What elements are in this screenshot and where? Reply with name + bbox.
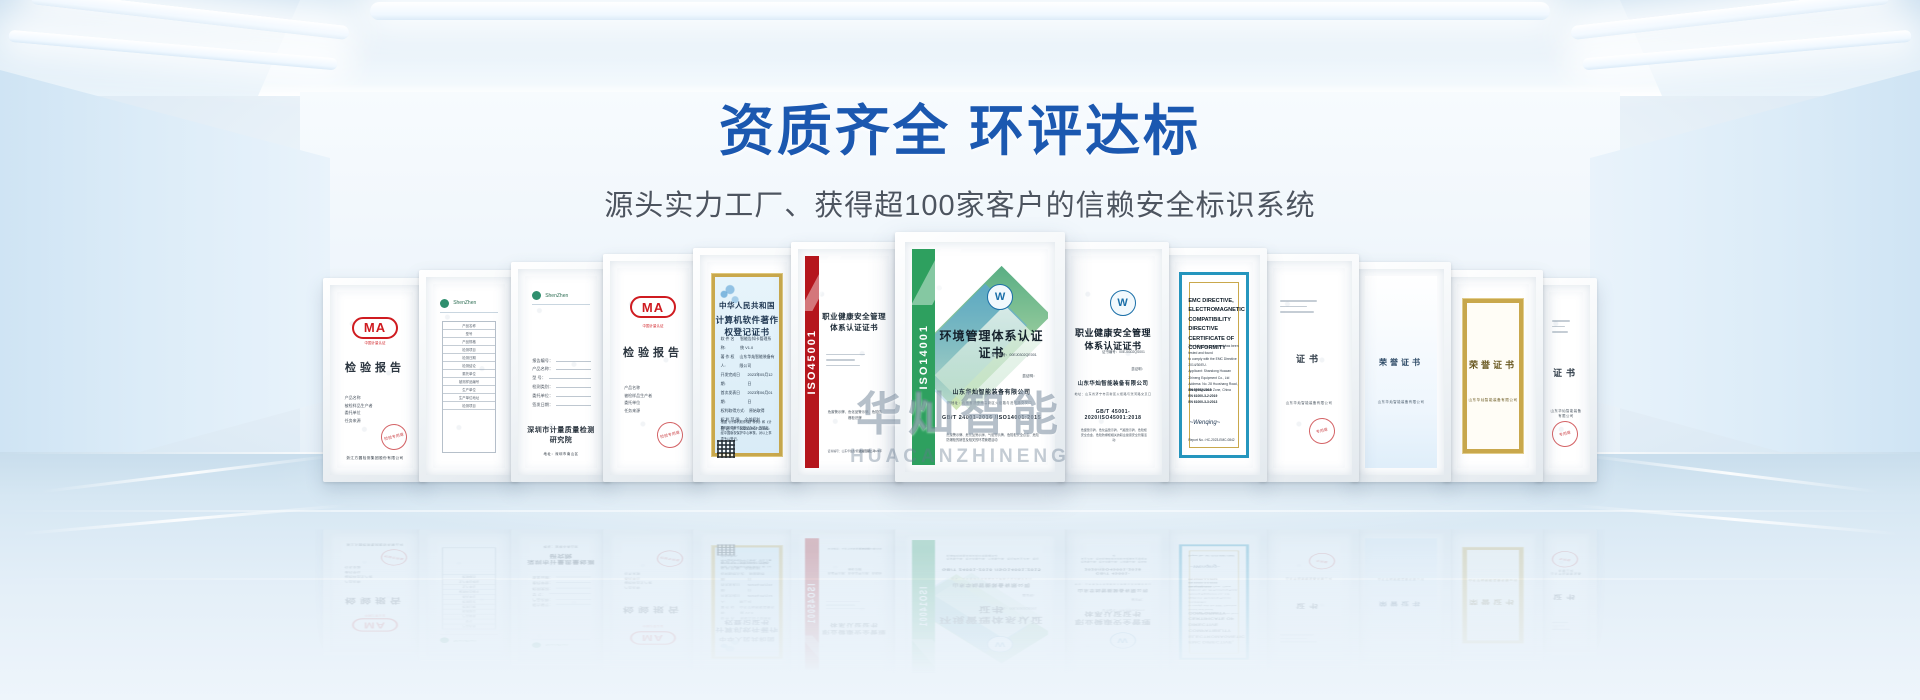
field-value [556,582,591,585]
issuer-footer-sub: 地址：深圳市南山区 [525,545,597,548]
certificate-paper: ShenZhen报告编号：产品名称：型 号：检测类别：委托单位：签发日期：深圳市… [525,276,597,468]
field-label: 任务来源 [624,407,682,415]
field-label: 报告编号： [532,357,553,366]
field-row: 开发完成日期:2023年05月12日 [721,587,775,598]
certificate-frame[interactable]: EMC DIRECTIVE,ELECTROMAGNETIC COMPATIBIL… [1161,248,1267,482]
certificate-title: 检验报告 [617,344,689,360]
frame-mat: EMC DIRECTIVE,ELECTROMAGNETIC COMPATIBIL… [1168,534,1260,670]
ma-accreditation-badge: MA [630,631,676,645]
field-label: 签发日期： [532,401,553,410]
ma-accreditation-badge: MA [352,317,398,339]
field-value [556,383,591,388]
certificate-fields: 产品名称被检样品生产者委托单位任务来源 [624,384,682,414]
ce-title-line: ELECTROMAGNETIC COMPATIBILITY DIRECTIVE [1188,621,1241,639]
field-row: 报告编号： [532,602,591,607]
spec-table: 产品名称型号产品规格检测项目检测日期检测结论委托单位被测样品编号生产单位生产单位… [442,547,497,629]
spec-table-row: 委托单位 [443,370,496,378]
ce-standard-line: EN 55032:2015 [1188,585,1241,589]
field-value [556,604,591,607]
certificate-number: 证书编号：00EJ0302QS001 [1102,349,1145,354]
frame-mat: ShenZhen产品名称型号产品规格检测项目检测日期检测结论委托单位被测样品编号… [426,277,512,475]
certificate-title: 荣誉证书 [1457,599,1529,607]
frame-mat: 证书山东华灿智能装备有限公司专用章 [1266,534,1352,667]
certificate-paper: ShenZhen产品名称型号产品规格检测项目检测日期检测结论委托单位被测样品编号… [433,538,505,652]
spec-table-row: 检测日期 [443,354,496,362]
certificate-spine: ISO45001 [805,538,819,669]
spec-table-row: 检测项目 [443,574,496,579]
certificate-paper: MA中国计量认证检验报告产品名称被检样品生产者委托单位任务来源检验专用章 [617,538,689,662]
field-label: 产品名称： [532,596,553,601]
company-name: 山东华灿智能装备有限公司 [1365,399,1437,404]
issuer-logo-icon [440,638,449,644]
ce-title-line: EMC DIRECTIVE, [1188,638,1241,644]
company-name: 山东华灿智能装备有限公司 [1549,569,1583,575]
field-value: 山东华灿智能装备有限公司 [740,598,775,609]
signature-mark: ~Wenqing~ [1190,420,1221,426]
company-address: 地址：山东省济宁市高新区火炬路与洸河路交叉口 [1071,392,1155,396]
spec-table-row: 委托单位 [443,594,496,599]
field-value: 2023年05月12日 [748,587,775,598]
company-label: 兹证明： [1022,374,1036,379]
certificate-title-line2: 计算机软件著作权登记证书 [715,619,779,634]
frame-mat: 荣誉证书山东华灿智能装备有限公司 [1358,269,1444,475]
field-label: 开发完成日期: [721,587,744,598]
certificate-body: W环境管理体系认证证书证书编号：00EJ0302QE001兹证明：山东华灿智能装… [935,540,1048,674]
certificate-paper: W职业健康安全管理体系认证证书证书编号：00EJ0302QS001兹证明：山东华… [1071,256,1155,468]
iso-standard-code: ISO14001 [918,324,930,390]
certification-seal-icon: W [1110,290,1136,316]
certificate-scope: 危废警示牌、危化品警示牌、危险防爆柜识牌 [826,567,883,575]
spec-table-row: 型号 [443,330,496,338]
certificate-fields: 产品名称被检样品生产者委托单位任务来源 [345,394,406,424]
blue-wash [1365,538,1437,657]
certificate-body: 职业健康安全管理体系认证证书危废警示牌、危化品警示牌、危险防爆柜识牌证书编号：山… [819,256,889,468]
certificate-paper: ShenZhen产品名称型号产品规格检测项目检测日期检测结论委托单位被测样品编号… [433,284,505,468]
ma-badge-subtext: 中国计量认证 [643,624,664,627]
frame-mat: W职业健康安全管理体系认证证书证书编号：00EJ0302QS001兹证明：山东华… [1064,534,1162,674]
certificate-spine: ISO14001 [912,540,935,674]
certificate-title: 证书 [1273,352,1345,365]
field-label: 报告编号： [532,602,553,607]
issuer-logo-icon [440,299,449,308]
company-name: 山东华灿智能装备有限公司 [1457,578,1529,581]
certificate-frame: 证书山东华灿智能装备有限公司专用章 [1259,530,1359,671]
field-row: 报告编号： [532,357,591,366]
footer-right: 发证日期：2023年 [859,547,882,549]
page-title: 资质齐全 环评达标 [0,86,1920,166]
spec-table-row: 检测项目 [443,346,496,354]
issuer-name: ShenZhen [545,643,568,647]
certificate-number: 证书编号：00EJ0302QS001 [1102,609,1145,612]
certificate-paper: ISO45001职业健康安全管理体系认证证书危废警示牌、危化品警示牌、危险防爆柜… [805,538,889,669]
ceiling-light-center [370,2,1550,20]
certification-scope: 危废警示牌、危化品警示牌、气瓶警示牌、危险柜安全合金、危险防爆柜相关的职业健康安… [1079,428,1148,443]
ce-report-number: Report No.: HC-2023-EMC-0842 [1188,554,1234,556]
field-value [549,593,591,596]
headline-block: 资质齐全 环评达标 源头实力工厂、获得超100家客户的信赖安全标识系统 [0,86,1920,224]
certificate-number: 证书编号：00EJ0302QE001 [991,607,1036,610]
certificate-paper: 证书山东华灿智能装备有限公司专用章 [1549,538,1583,647]
ce-standards: EN 55032:2015EN 61000-3-2:2019EN 61000-3… [1188,577,1241,589]
company-name: 山东华灿智能装备有限公司 [1273,577,1345,580]
field-row: 委托单位： [532,392,591,401]
issuer-footer-sub: 地址：深圳市南山区 [525,451,597,456]
ce-body-line: Applicant: Shandong Huacan Zhineng Equip… [1188,592,1241,600]
field-value [556,365,591,370]
field-value [556,588,591,591]
ce-standard-line: EN 61000-3-3:2013 [1188,399,1241,405]
gold-border [1463,299,1524,454]
field-value: 智能告知卡管理系统 V1.0 [740,609,775,620]
certificate-paper: MA中国计量认证检验报告产品名称被检样品生产者委托单位任务来源检验专用章 [617,268,689,468]
frame-mat: EMC DIRECTIVE,ELECTROMAGNETIC COMPATIBIL… [1168,255,1260,475]
ce-body-line: to comply with the EMC Directive 2014/30… [1188,356,1241,369]
field-value: 山东华灿智能装备有限公司 [740,353,775,371]
field-label: 著 作 权 人: [721,353,736,371]
certificate-title: 荣誉证书 [1365,600,1437,607]
frame-mat: ISO45001职业健康安全管理体系认证证书危废警示牌、危化品警示牌、危险防爆柜… [798,249,896,475]
field-label: 委托单位 [345,409,406,417]
field-row: 权利取得方式:原始取得 [721,407,775,416]
footer-right: 发证日期：2023年 [859,449,882,453]
certification-seal-icon: W [987,284,1013,310]
certificate-frame: MA中国计量认证检验报告产品名称被检样品生产者委托单位任务来源检验专用章 [603,530,703,671]
ce-body-line: The following equipment has been tested … [1188,608,1241,616]
field-label: 著 作 权 人: [721,598,736,609]
field-label: 委托单位： [532,580,553,585]
field-label: 被检样品生产者 [345,402,406,410]
field-row: 首次发表日期:2023年06月01日 [721,389,775,407]
company-name: 山东华灿智能装备有限公司 [1273,400,1345,405]
field-value [556,401,591,406]
certificate-spine: ISO14001 [912,249,935,465]
certification-scope: 危废警示牌、危化品警示牌、气瓶警示牌、危险柜安全合金、危险防爆柜的销售及相关的环… [946,554,1039,560]
spec-table-row: 检测结论 [443,599,496,604]
spec-table-row: 检测项目 [443,402,496,410]
company-name: 山东华灿智能装备有限公司 [1071,379,1155,387]
company-name: 山东华灿智能装备有限公司 [1457,398,1529,403]
frame-mat: 荣誉证书山东华灿智能装备有限公司 [1450,277,1536,475]
field-label: 被检样品生产者 [624,581,682,586]
field-label: 任务来源 [624,571,682,576]
ce-certificate-border: EMC DIRECTIVE,ELECTROMAGNETIC COMPATIBIL… [1179,272,1249,457]
frame-mat: MA中国计量认证检验报告产品名称被检样品生产者委托单位任务来源检验专用章 [610,534,696,667]
ce-body: The following equipment has been tested … [1188,584,1241,615]
certificate-frame[interactable]: 证书山东华灿智能装备有限公司专用章 [1535,278,1597,482]
certification-seal-icon: W [1110,632,1136,648]
certificate-frame[interactable]: MA中国计量认证检验报告产品名称被检样品生产者委托单位任务来源检验专用章 [603,254,703,482]
field-label: 产品名称 [624,586,682,591]
ma-badge-subtext: 中国计量认证 [365,341,386,346]
certificate-frame: 中华人民共和国计算机软件著作权登记证书软 件 名 称:智能告知卡管理系统 V1.… [693,530,801,675]
certificate-title: 证书 [1273,602,1345,610]
field-value: 原始取得 [749,407,765,416]
field-value: 2023年06月01日 [748,389,775,407]
field-label: 签发日期： [532,574,553,579]
ornate-border: 中华人民共和国计算机软件著作权登记证书软 件 名 称:智能告知卡管理系统 V1.… [712,274,782,455]
frame-mat: 中华人民共和国计算机软件著作权登记证书软 件 名 称:智能告知卡管理系统 V1.… [700,534,794,670]
certificate-fields: 软 件 名 称:智能告知卡管理系统 V1.0著 作 权 人:山东华灿智能装备有限… [721,559,775,620]
certificate-frame: 证书山东华灿智能装备有限公司专用章 [1535,530,1597,656]
frame-mat: 证书山东华灿智能装备有限公司专用章 [1542,285,1590,475]
field-row: 产品名称： [532,365,591,374]
spec-table-row: 检测结论 [443,362,496,370]
field-label: 软 件 名 称: [721,335,737,353]
field-value [556,392,591,397]
spec-table-row: 检测项目 [443,609,496,614]
ce-report-number: Report No.: HC-2023-EMC-0842 [1188,438,1234,442]
certificate-title: 检验报告 [617,605,689,615]
certificate-paper: W职业健康安全管理体系认证证书证书编号：00EJ0302QS001兹证明：山东华… [1071,538,1155,669]
signature-mark: ~Wenqing~ [1190,564,1221,568]
certificate-paper: EMC DIRECTIVE,ELECTROMAGNETIC COMPATIBIL… [1175,538,1253,666]
certification-scope: 危废警示牌、危化品警示牌、气瓶警示牌、危险柜安全合金、危险防爆柜的销售及相关的环… [946,433,1039,443]
certificate-title: 证书 [1549,593,1583,601]
certificate-title: 职业健康安全管理体系认证证书 [819,622,889,636]
issuer-footer: 深圳市计量质量检测研究院 [525,552,597,564]
certificate-fields: 产品名称被检样品生产者委托单位任务来源 [345,565,406,584]
standard-code: GB/T 24001-2016 /ISO14001:2015 [935,415,1048,421]
certificate-frame[interactable]: ISO14001W环境管理体系认证证书证书编号：00EJ0302QE001兹证明… [895,232,1065,482]
ce-body-line: Applicant: Shandong Huacan Zhineng Equip… [1188,368,1241,381]
spec-table-row: 生产单位 [443,584,496,589]
spec-table-row: 被测样品编号 [443,378,496,386]
iso-standard-code: ISO45001 [806,329,818,395]
field-value: 2023年06月01日 [748,576,775,587]
certificate-paper: EMC DIRECTIVE,ELECTROMAGNETIC COMPATIBIL… [1175,262,1253,468]
certificate-title: 职业健康安全管理体系认证证书 [819,311,889,333]
certificate-footer: 浙江方圆检测集团股份有限公司 [337,456,413,461]
field-row: 首次发表日期:2023年06月01日 [721,576,775,587]
field-row: 软 件 名 称:智能告知卡管理系统 V1.0 [721,609,775,620]
company-address: 地址：山东省济宁市高新区火炬路与洸河路交叉口 [935,400,1048,405]
certificate-paper: MA中国计量认证检验报告产品名称被检样品生产者委托单位任务来源浙江方圆检测集团股… [337,538,413,647]
watermark-pattern [1273,538,1345,662]
certificate-body: W环境管理体系认证证书证书编号：00EJ0302QE001兹证明：山东华灿智能装… [935,249,1048,465]
certificate-frame[interactable]: MA中国计量认证检验报告产品名称被检样品生产者委托单位任务来源浙江方圆检测集团股… [323,278,427,482]
spec-table-row: 产品名称 [443,322,496,330]
gold-border [1463,547,1524,643]
ce-body-line: The following equipment has been tested … [1188,343,1241,356]
certificate-spine: ISO45001 [805,256,819,468]
ma-accreditation-badge: MA [352,618,398,632]
field-label: 首次发表日期: [721,576,744,587]
field-row: 开发完成日期:2023年05月12日 [721,371,775,389]
field-label: 型 号： [532,591,546,596]
frame-mat: 荣誉证书山东华灿智能装备有限公司 [1358,534,1444,662]
certificate-frame: EMC DIRECTIVE,ELECTROMAGNETIC COMPATIBIL… [1161,530,1267,675]
certificate-wall-reflection: MA中国计量认证检验报告产品名称被检样品生产者委托单位任务来源浙江方圆检测集团股… [315,530,1605,685]
field-value: 智能告知卡管理系统 V1.0 [740,335,775,353]
field-row: 检测类别： [532,585,591,590]
field-label: 型 号： [532,374,546,383]
company-address: 地址：山东省济宁市高新区火炬路与洸河路交叉口 [935,577,1048,580]
certificate-title-line1: 中华人民共和国 [715,300,779,311]
company-name: 山东华灿智能装备有限公司 [935,387,1048,396]
issuer-name: ShenZhen [453,638,476,642]
certificate-frame: ISO14001W环境管理体系认证证书证书编号：00EJ0302QE001兹证明… [895,530,1065,685]
certificate-frame[interactable]: 中华人民共和国计算机软件著作权登记证书软 件 名 称:智能告知卡管理系统 V1.… [693,248,801,482]
certificate-paper: ISO45001职业健康安全管理体系认证证书危废警示牌、危化品警示牌、危险防爆柜… [805,256,889,468]
frame-mat: W职业健康安全管理体系认证证书证书编号：00EJ0302QS001兹证明：山东华… [1064,249,1162,475]
issuer-logo-icon [532,642,541,648]
frame-mat: MA中国计量认证检验报告产品名称被检样品生产者委托单位任务来源浙江方圆检测集团股… [330,285,420,475]
company-label: 兹证明： [1022,593,1036,596]
spec-table: 产品名称型号产品规格检测项目检测日期检测结论委托单位被测样品编号生产单位生产单位… [442,321,497,453]
issuer-name: ShenZhen [545,293,568,299]
certificate-body: 职业健康安全管理体系认证证书危废警示牌、危化品警示牌、危险防爆柜识牌证书编号：山… [819,538,889,669]
certificate-frame: W职业健康安全管理体系认证证书证书编号：00EJ0302QS001兹证明：山东华… [1057,530,1169,679]
field-label: 任务来源 [345,565,406,570]
ma-badge-subtext: 中国计量认证 [643,324,664,329]
company-name: 山东华灿智能装备有限公司 [935,583,1048,589]
ma-badge-subtext: 中国计量认证 [365,614,386,617]
spec-table-row: 产品名称 [443,624,496,629]
certificate-title: 职业健康安全管理体系认证证书 [1071,610,1155,626]
certificate-scope: 危废警示牌、危化品警示牌、危险防爆柜识牌 [826,409,883,421]
field-row: 产品名称： [532,596,591,601]
field-label: 产品名称： [532,365,553,374]
certificate-frame[interactable]: ShenZhen报告编号：产品名称：型 号：检测类别：委托单位：签发日期：深圳市… [511,262,611,482]
certificate-title: 证书 [1549,366,1583,379]
banner-stage: 资质齐全 环评达标 源头实力工厂、获得超100家客户的信赖安全标识系统 MA中国… [0,0,1920,700]
company-name: 山东华灿智能装备有限公司 [1365,578,1437,581]
company-label: 兹证明： [1131,598,1145,601]
spec-table-row: 生产单位 [443,386,496,394]
frame-mat: ShenZhen产品名称型号产品规格检测项目检测日期检测结论委托单位被测样品编号… [426,534,512,657]
field-label: 委托单位 [624,576,682,581]
certificate-title-line1: 中华人民共和国 [715,635,779,642]
certification-scope: 危废警示牌、危化品警示牌、气瓶警示牌、危险柜安全合金、危险防爆柜相关的职业健康安… [1079,554,1148,563]
issuer-row: ShenZhen [440,634,498,643]
certificate-number: 证书编号：00EJ0302QE001 [991,353,1036,358]
certificate-paper: 荣誉证书山东华灿智能装备有限公司 [1365,276,1437,468]
certificate-paper: 证书山东华灿智能装备有限公司专用章 [1549,292,1583,468]
frame-mat: ISO45001职业健康安全管理体系认证证书危废警示牌、危化品警示牌、危险防爆柜… [798,534,896,674]
ce-title-line: EMC DIRECTIVE, [1188,297,1241,307]
certificate-paper: 中华人民共和国计算机软件著作权登记证书软 件 名 称:智能告知卡管理系统 V1.… [707,262,787,468]
certificate-footer: 根据《计算机软件保护条例》和《计算机软件著作权登记办法》的规定，经中国版权保护中… [721,554,775,567]
certificate-title: 检验报告 [337,596,413,606]
certificate-frame: MA中国计量认证检验报告产品名称被检样品生产者委托单位任务来源浙江方圆检测集团股… [323,530,427,656]
field-row: 著 作 权 人:山东华灿智能装备有限公司 [721,353,775,371]
certificate-title: 职业健康安全管理体系认证证书 [1071,326,1155,352]
frame-mat: 中华人民共和国计算机软件著作权登记证书软 件 名 称:智能告知卡管理系统 V1.… [700,255,794,475]
frame-mat: ISO14001W环境管理体系认证证书证书编号：00EJ0302QE001兹证明… [905,242,1055,472]
field-row: 检测类别： [532,383,591,392]
field-value [556,357,591,362]
certificate-frame[interactable]: ISO45001职业健康安全管理体系认证证书危废警示牌、危化品警示牌、危险防爆柜… [791,242,903,482]
company-label: 兹证明： [1131,366,1145,371]
certificate-title: 检验报告 [337,359,413,375]
frame-mat: ISO14001W环境管理体系认证证书证书编号：00EJ0302QE001兹证明… [905,536,1055,679]
certificate-frame: 荣誉证书山东华灿智能装备有限公司 [1351,530,1451,666]
certificate-frame[interactable]: 证书山东华灿智能装备有限公司专用章 [1259,254,1359,482]
ce-title-line: ELECTROMAGNETIC COMPATIBILITY DIRECTIVE [1188,306,1241,335]
field-row: 签发日期： [532,401,591,410]
certificate-wall: MA中国计量认证检验报告产品名称被检样品生产者委托单位任务来源浙江方圆检测集团股… [315,232,1605,482]
qr-code-icon [717,440,735,458]
certificate-paper: 荣誉证书山东华灿智能装备有限公司 [1457,538,1529,652]
issuer-row: ShenZhen [532,291,590,305]
field-row: 软 件 名 称:智能告知卡管理系统 V1.0 [721,335,775,353]
certificate-frame[interactable]: 荣誉证书山东华灿智能装备有限公司 [1351,262,1451,482]
iso-standard-code: ISO45001 [806,584,818,625]
issuer-logo-icon [532,291,541,300]
field-row: 型 号： [532,591,591,596]
field-label: 开发完成日期: [721,371,744,389]
certificate-paper: ISO14001W环境管理体系认证证书证书编号：00EJ0302QE001兹证明… [912,249,1048,465]
spec-table-row: 被测样品编号 [443,589,496,594]
ce-body-line: to comply with the EMC Directive 2014/30… [1188,600,1241,608]
field-label: 委托单位 [624,399,682,407]
qr-code-icon [717,545,735,556]
standard-code: GB/T 24001-2016 /ISO14001:2015 [935,567,1048,571]
spec-table-row: 型号 [443,619,496,624]
field-value [556,577,591,580]
ce-standard-line: EN 61000-3-2:2019 [1188,581,1241,585]
certificate-frame[interactable]: W职业健康安全管理体系认证证书证书编号：00EJ0302QS001兹证明：山东华… [1057,242,1169,482]
certificate-paper: 中华人民共和国计算机软件著作权登记证书软 件 名 称:智能告知卡管理系统 V1.… [707,538,787,666]
frame-mat: MA中国计量认证检验报告产品名称被检样品生产者委托单位任务来源浙江方圆检测集团股… [330,534,420,652]
iso-standard-code: ISO14001 [918,587,930,628]
spec-table-row: 检测日期 [443,604,496,609]
field-label: 检测类别： [532,383,553,392]
certificate-frame: 荣誉证书山东华灿智能装备有限公司 [1443,530,1543,661]
certificate-paper: 证书山东华灿智能装备有限公司专用章 [1273,538,1345,662]
certificate-frame[interactable]: ShenZhen产品名称型号产品规格检测项目检测日期检测结论委托单位被测样品编号… [419,270,519,482]
certificate-fields: 报告编号：产品名称：型 号：检测类别：委托单位：签发日期： [532,357,591,410]
ce-standards: EN 55032:2015EN 61000-3-2:2019EN 61000-3… [1188,387,1241,406]
certificate-title: 荣誉证书 [1457,358,1529,371]
field-label: 软 件 名 称: [721,609,737,620]
company-address: 地址：山东省济宁市高新区火炬路与洸河路交叉口 [1071,583,1155,585]
field-label: 产品名称 [345,394,406,402]
frame-mat: 证书山东华灿智能装备有限公司专用章 [1266,261,1352,475]
field-label: 被检样品生产者 [624,392,682,400]
field-value: 原始取得 [749,570,765,576]
field-label: 首次发表日期: [721,389,744,407]
field-label: 被检样品生产者 [345,575,406,580]
field-value [556,599,591,602]
blue-wash [1365,276,1437,468]
certificate-frame: ShenZhen产品名称型号产品规格检测项目检测日期检测结论委托单位被测样品编号… [419,530,519,661]
certificate-frame: ShenZhen报告编号：产品名称：型 号：检测类别：委托单位：签发日期：深圳市… [511,530,611,666]
issuer-row: ShenZhen [440,299,498,313]
field-label: 产品名称 [345,579,406,584]
field-value: 2023年05月12日 [748,371,775,389]
frame-mat: ShenZhen报告编号：产品名称：型 号：检测类别：委托单位：签发日期：深圳市… [518,269,604,475]
spec-table-row: 生产单位地址 [443,579,496,584]
frame-mat: 证书山东华灿智能装备有限公司专用章 [1542,534,1590,652]
spec-table-row: 生产单位地址 [443,394,496,402]
field-row: 型 号： [532,374,591,383]
issuer-row: ShenZhen [532,639,590,648]
field-label: 委托单位： [532,392,553,401]
page-subtitle: 源头实力工厂、获得超100家客户的信赖安全标识系统 [0,182,1920,224]
certificate-frame[interactable]: 荣誉证书山东华灿智能装备有限公司 [1443,270,1543,482]
watermark-pattern [1273,268,1345,468]
field-label: 检测类别： [532,585,553,590]
field-row: 委托单位： [532,580,591,585]
ornate-border: 中华人民共和国计算机软件著作权登记证书软 件 名 称:智能告知卡管理系统 V1.… [712,546,782,658]
field-label: 权利取得方式: [721,407,745,416]
field-row: 著 作 权 人:山东华灿智能装备有限公司 [721,598,775,609]
frame-mat: ShenZhen报告编号：产品名称：型 号：检测类别：委托单位：签发日期：深圳市… [518,534,604,662]
standard-code: GB/T 45001-2020/ISO45001:2018 [1071,409,1155,421]
certificate-fields: 报告编号：产品名称：型 号：检测类别：委托单位：签发日期： [532,574,591,607]
field-value [549,374,591,379]
